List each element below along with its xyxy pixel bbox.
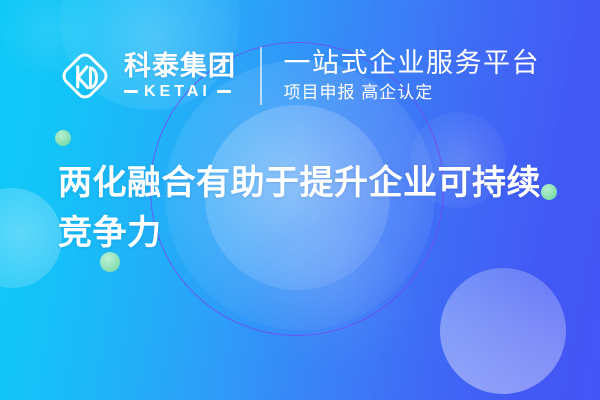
banner-header: 科泰集团 KETAI 一站式企业服务平台 项目申报 高企认定 <box>56 42 540 110</box>
logo-wordmark: 科泰集团 KETAI <box>124 52 236 99</box>
ketai-diamond-monogram-icon <box>56 47 114 105</box>
background-blob-left-edge <box>0 188 62 288</box>
logo-dash-left-icon <box>124 90 138 93</box>
promo-banner: 科泰集团 KETAI 一站式企业服务平台 项目申报 高企认定 两化融合有助于提升… <box>0 0 600 400</box>
logo-company-name-en: KETAI <box>144 84 211 100</box>
brand-logo[interactable]: 科泰集团 KETAI <box>56 47 236 105</box>
header-vertical-divider <box>260 47 262 105</box>
logo-dash-right-icon <box>217 90 231 93</box>
logo-company-name-cn: 科泰集团 <box>124 52 236 80</box>
background-blob-bottom-right <box>440 268 566 394</box>
tagline-block: 一站式企业服务平台 项目申报 高企认定 <box>284 48 541 104</box>
tagline-secondary: 项目申报 高企认定 <box>284 83 541 103</box>
headline-text: 两化融合有助于提升企业可持续竞争力 <box>58 158 558 259</box>
accent-dot-green-1 <box>55 130 71 146</box>
tagline-primary: 一站式企业服务平台 <box>284 48 541 78</box>
logo-english-row: KETAI <box>124 84 236 100</box>
